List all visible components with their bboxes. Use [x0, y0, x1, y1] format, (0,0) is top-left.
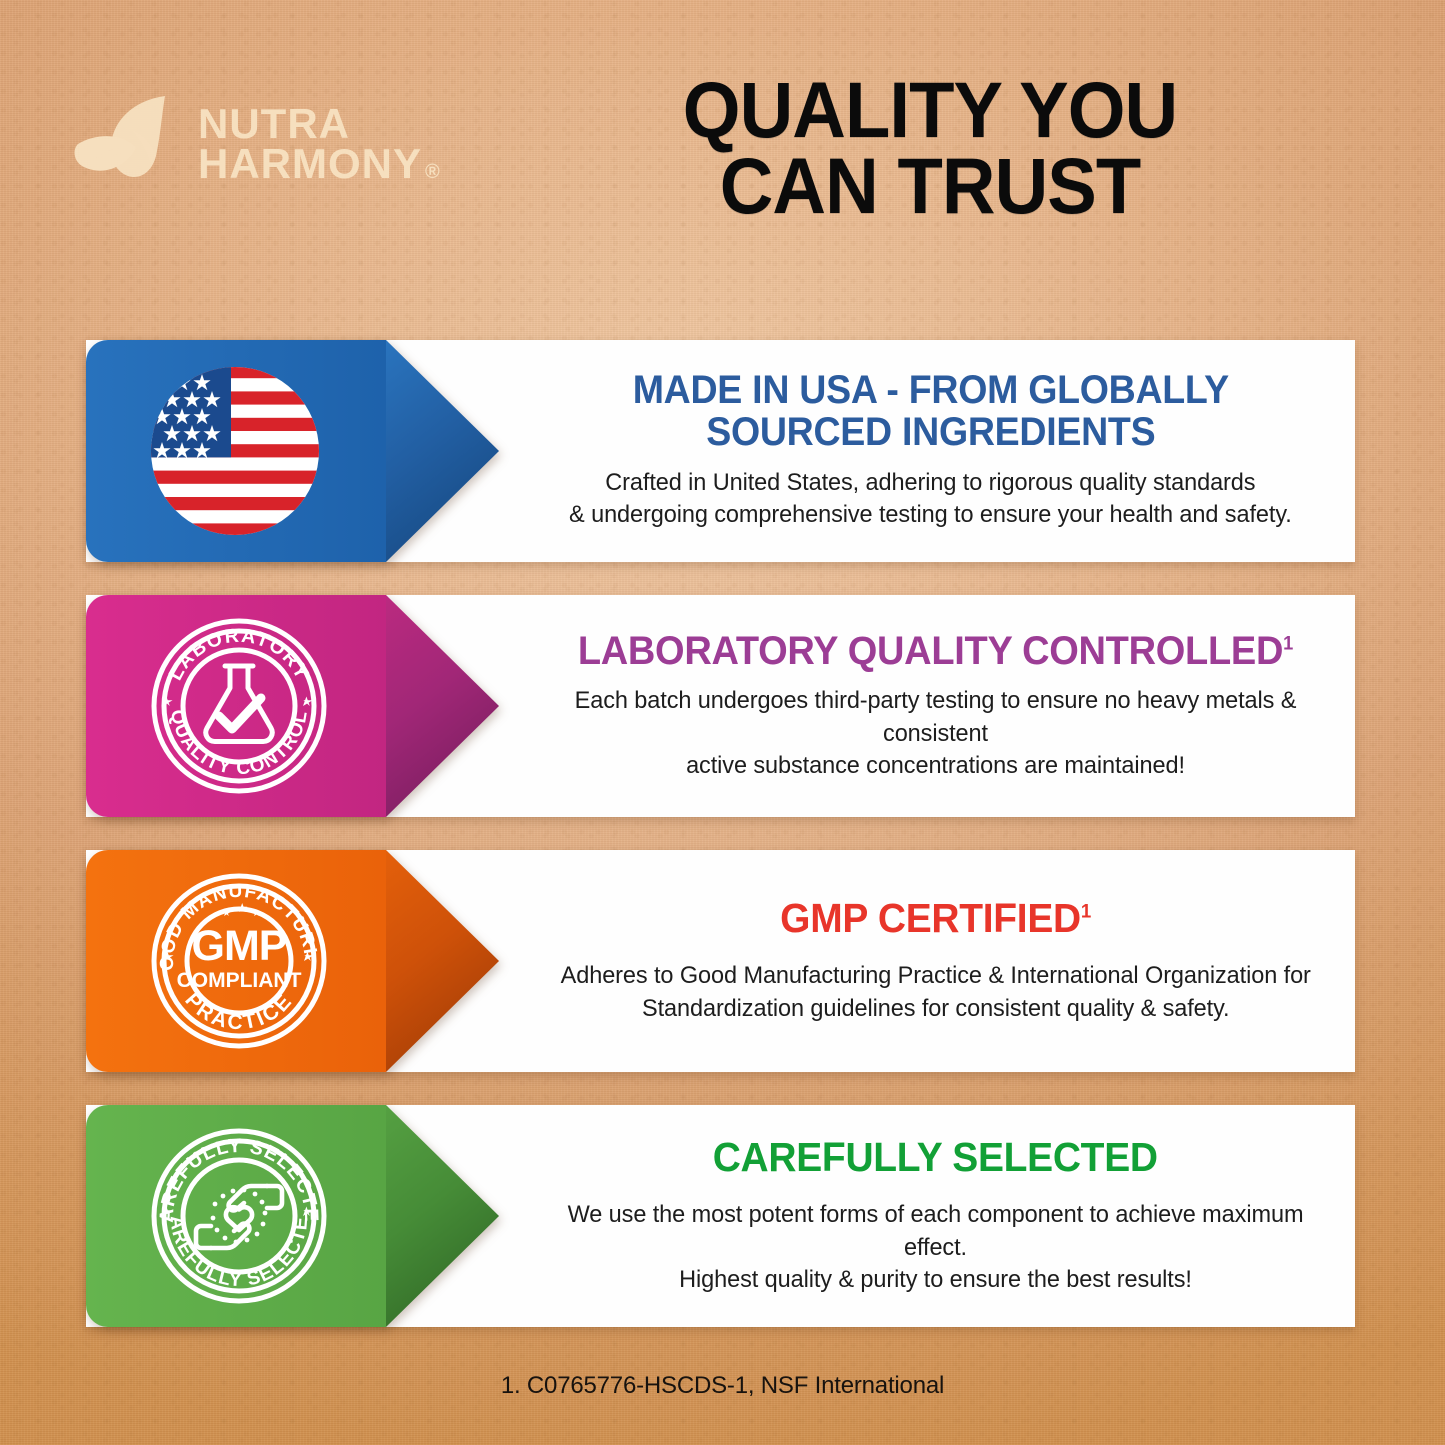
card-body: Adheres to Good Manufacturing Practice &… [560, 960, 1310, 1025]
card-body: Crafted in United States, adhering to ri… [569, 467, 1292, 532]
card-body-line2: & undergoing comprehensive testing to en… [569, 499, 1292, 531]
card-body: We use the most potent forms of each com… [550, 1199, 1321, 1296]
card-heading-line1: MADE IN USA - FROM GLOBALLY [632, 368, 1228, 412]
card-carefully-selected: CAREFULLY SELECTED CAREFULLY SELECTED [86, 1105, 1355, 1327]
accent-arrow [86, 595, 499, 817]
footnote: 1. C0765776-HSCDS-1, NSF International [0, 1372, 1445, 1400]
page-title: QUALITY YOU CAN TRUST [620, 72, 1240, 224]
page-title-line1: QUALITY YOU [620, 72, 1240, 148]
card-text: GMP CERTIFIED1 Adheres to Good Manufactu… [516, 850, 1355, 1072]
accent-arrow [86, 1105, 499, 1327]
accent-arrow [86, 340, 499, 562]
card-body-line1: Each batch undergoes third-party testing… [550, 685, 1321, 750]
card-made-in-usa: MADE IN USA - FROM GLOBALLY SOURCED INGR… [86, 340, 1355, 562]
card-heading-line2: SOURCED INGREDIENTS [706, 410, 1155, 454]
registered-mark: ® [425, 163, 441, 182]
card-heading-line1: LABORATORY QUALITY CONTROLLED [578, 629, 1283, 673]
card-text: MADE IN USA - FROM GLOBALLY SOURCED INGR… [506, 340, 1355, 562]
card-heading: CAREFULLY SELECTED [713, 1136, 1158, 1179]
infographic-page: NUTRA HARMONY ® QUALITY YOU CAN TRUST [0, 0, 1445, 1445]
brand-logo: NUTRA HARMONY ® [70, 92, 441, 196]
card-body-line2: Highest quality & purity to ensure the b… [550, 1264, 1321, 1296]
card-laboratory-quality-controlled: LABORATORY QUALITY CONTROL LABORATORY Q [86, 595, 1355, 817]
card-heading-line1: GMP CERTIFIED [780, 895, 1081, 941]
card-heading: MADE IN USA - FROM GLOBALLY SOURCED INGR… [632, 370, 1228, 454]
card-heading-superscript: 1 [1283, 633, 1293, 654]
leaf-icon [70, 92, 188, 196]
card-text: CAREFULLY SELECTED We use the most poten… [516, 1105, 1355, 1327]
card-heading: GMP CERTIFIED1 [780, 897, 1091, 940]
accent-arrow [86, 850, 499, 1072]
card-body-line1: Adheres to Good Manufacturing Practice &… [560, 960, 1310, 992]
header: NUTRA HARMONY ® QUALITY YOU CAN TRUST [0, 0, 1445, 300]
card-body-line1: We use the most potent forms of each com… [550, 1199, 1321, 1264]
card-heading: LABORATORY QUALITY CONTROLLED1 [578, 630, 1293, 672]
card-body-line2: active substance concentrations are main… [550, 750, 1321, 782]
page-title-line2: CAN TRUST [620, 148, 1240, 224]
card-body-line1: Crafted in United States, adhering to ri… [569, 467, 1292, 499]
card-heading-line1: CAREFULLY SELECTED [713, 1134, 1158, 1180]
card-heading-superscript: 1 [1081, 900, 1091, 922]
card-gmp-certified: GOOD MANUFACTURING PRACTICE GMP COMPLIAN… [86, 850, 1355, 1072]
card-body-line2: Standardization guidelines for consisten… [560, 993, 1310, 1025]
logo-text-line2: HARMONY [198, 144, 422, 184]
card-text: LABORATORY QUALITY CONTROLLED1 Each batc… [516, 595, 1355, 817]
logo-text-line1: NUTRA [198, 104, 441, 144]
card-body: Each batch undergoes third-party testing… [550, 685, 1321, 782]
